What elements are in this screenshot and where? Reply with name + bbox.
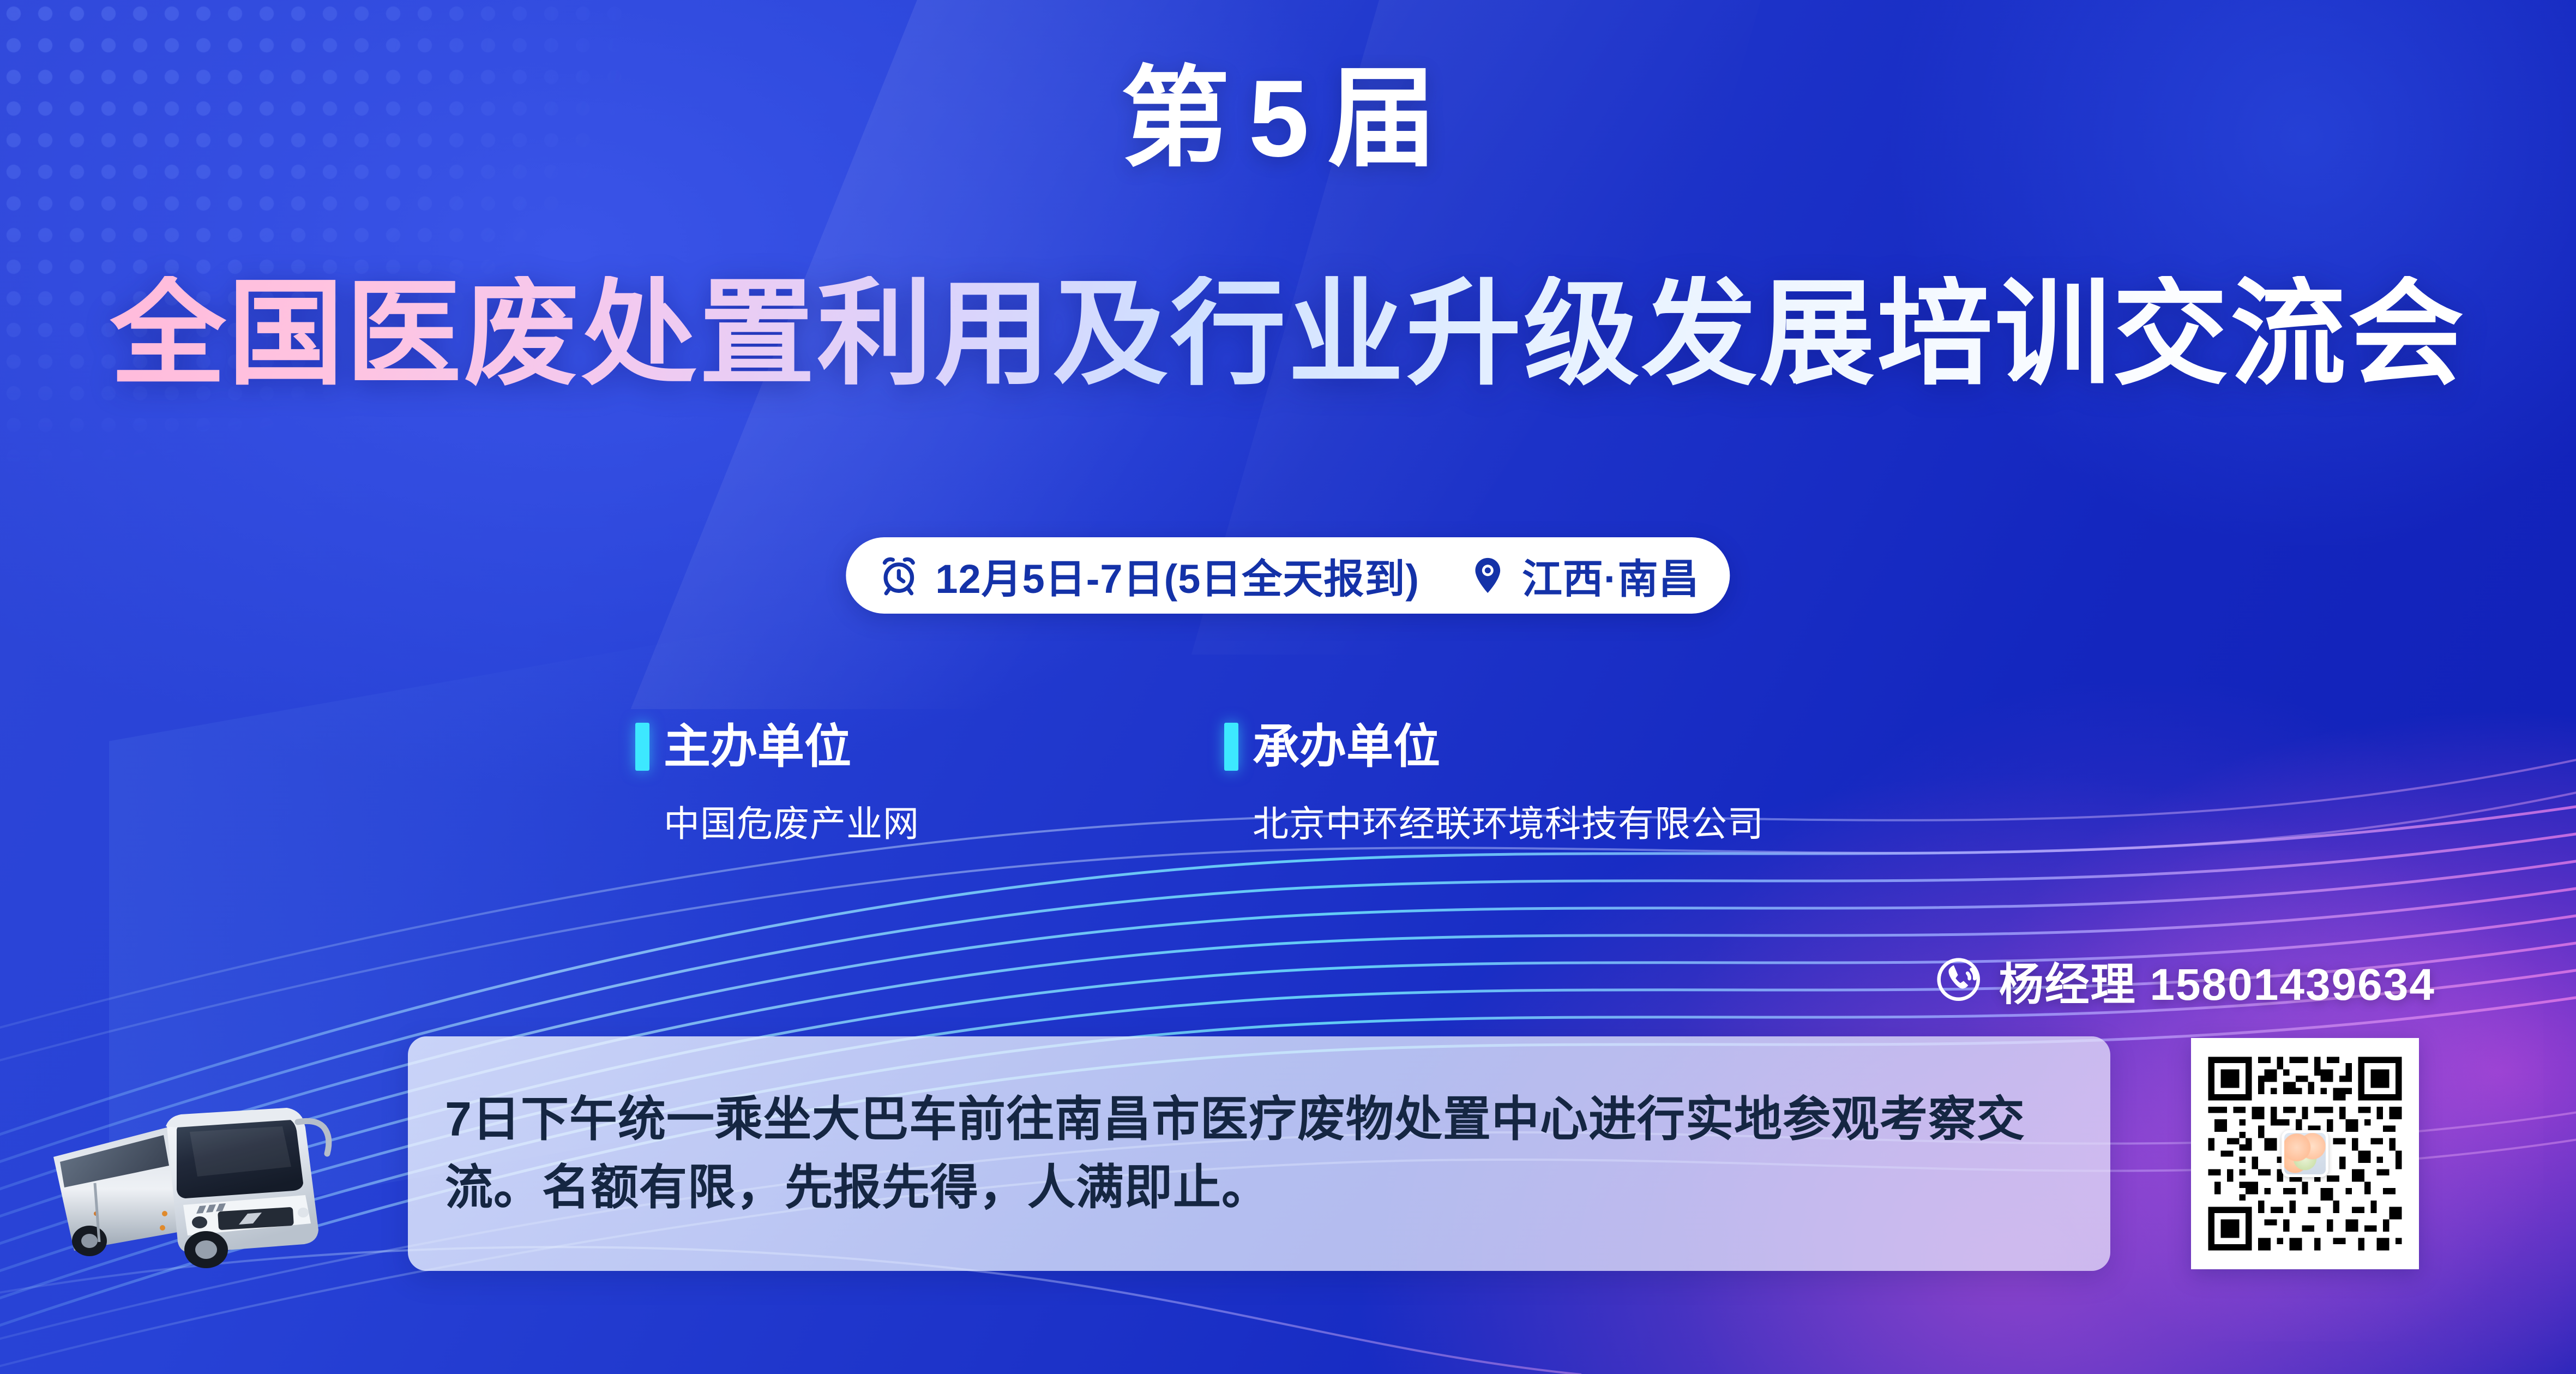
accent-bar-icon [635, 723, 649, 771]
organizer-coorganizer-name: 北京中环经联环境科技有限公司 [1253, 795, 1764, 847]
organizer-host: 主办单位 中国危废产业网 [635, 723, 1224, 847]
date-location-badge: 12月5日-7日(5日全天报到) 江西·南昌 [846, 537, 1730, 614]
phone-icon [1935, 956, 1985, 1006]
organizer-host-name: 中国危废产业网 [664, 795, 1224, 847]
notice-panel: 7日下午统一乘坐大巴车前往南昌市医疗废物处置中心进行实地参观考察交流。名额有限，… [408, 1036, 2110, 1271]
flower-bouquet-avatar [2282, 1130, 2328, 1177]
coach-bus-illustration [26, 1050, 408, 1279]
organizer-host-label: 主办单位 [664, 723, 851, 770]
page-title-main: 全国医废处置利用及行业升级发展培训交流会 [0, 276, 2576, 392]
conference-poster: 第5届 全国医废处置利用及行业升级发展培训交流会 12月5日-7日(5日全天报到… [0, 0, 2576, 1374]
organizer-coorganizer: 承办单位 北京中环经联环境科技有限公司 [1224, 723, 1764, 847]
contact-info[interactable]: 杨经理 15801439634 [1935, 948, 2435, 1013]
contact-text: 杨经理 15801439634 [1999, 948, 2435, 1013]
notice-text: 7日下午统一乘坐大巴车前往南昌市医疗废物处置中心进行实地参观考察交流。名额有限，… [445, 1085, 2073, 1222]
location-pin-icon [1467, 553, 1508, 598]
wechat-qr-code[interactable] [2191, 1038, 2419, 1269]
page-title-edition: 第5届 [0, 64, 2576, 173]
organizer-coorganizer-label: 承办单位 [1253, 723, 1440, 770]
event-location-text: 江西·南昌 [1522, 547, 1700, 605]
event-date-text: 12月5日-7日(5日全天报到) [935, 547, 1419, 605]
organizers-section: 主办单位 中国危废产业网 承办单位 北京中环经联环境科技有限公司 [635, 723, 2053, 847]
accent-bar-icon [1224, 723, 1238, 771]
alarm-clock-icon [876, 553, 921, 598]
